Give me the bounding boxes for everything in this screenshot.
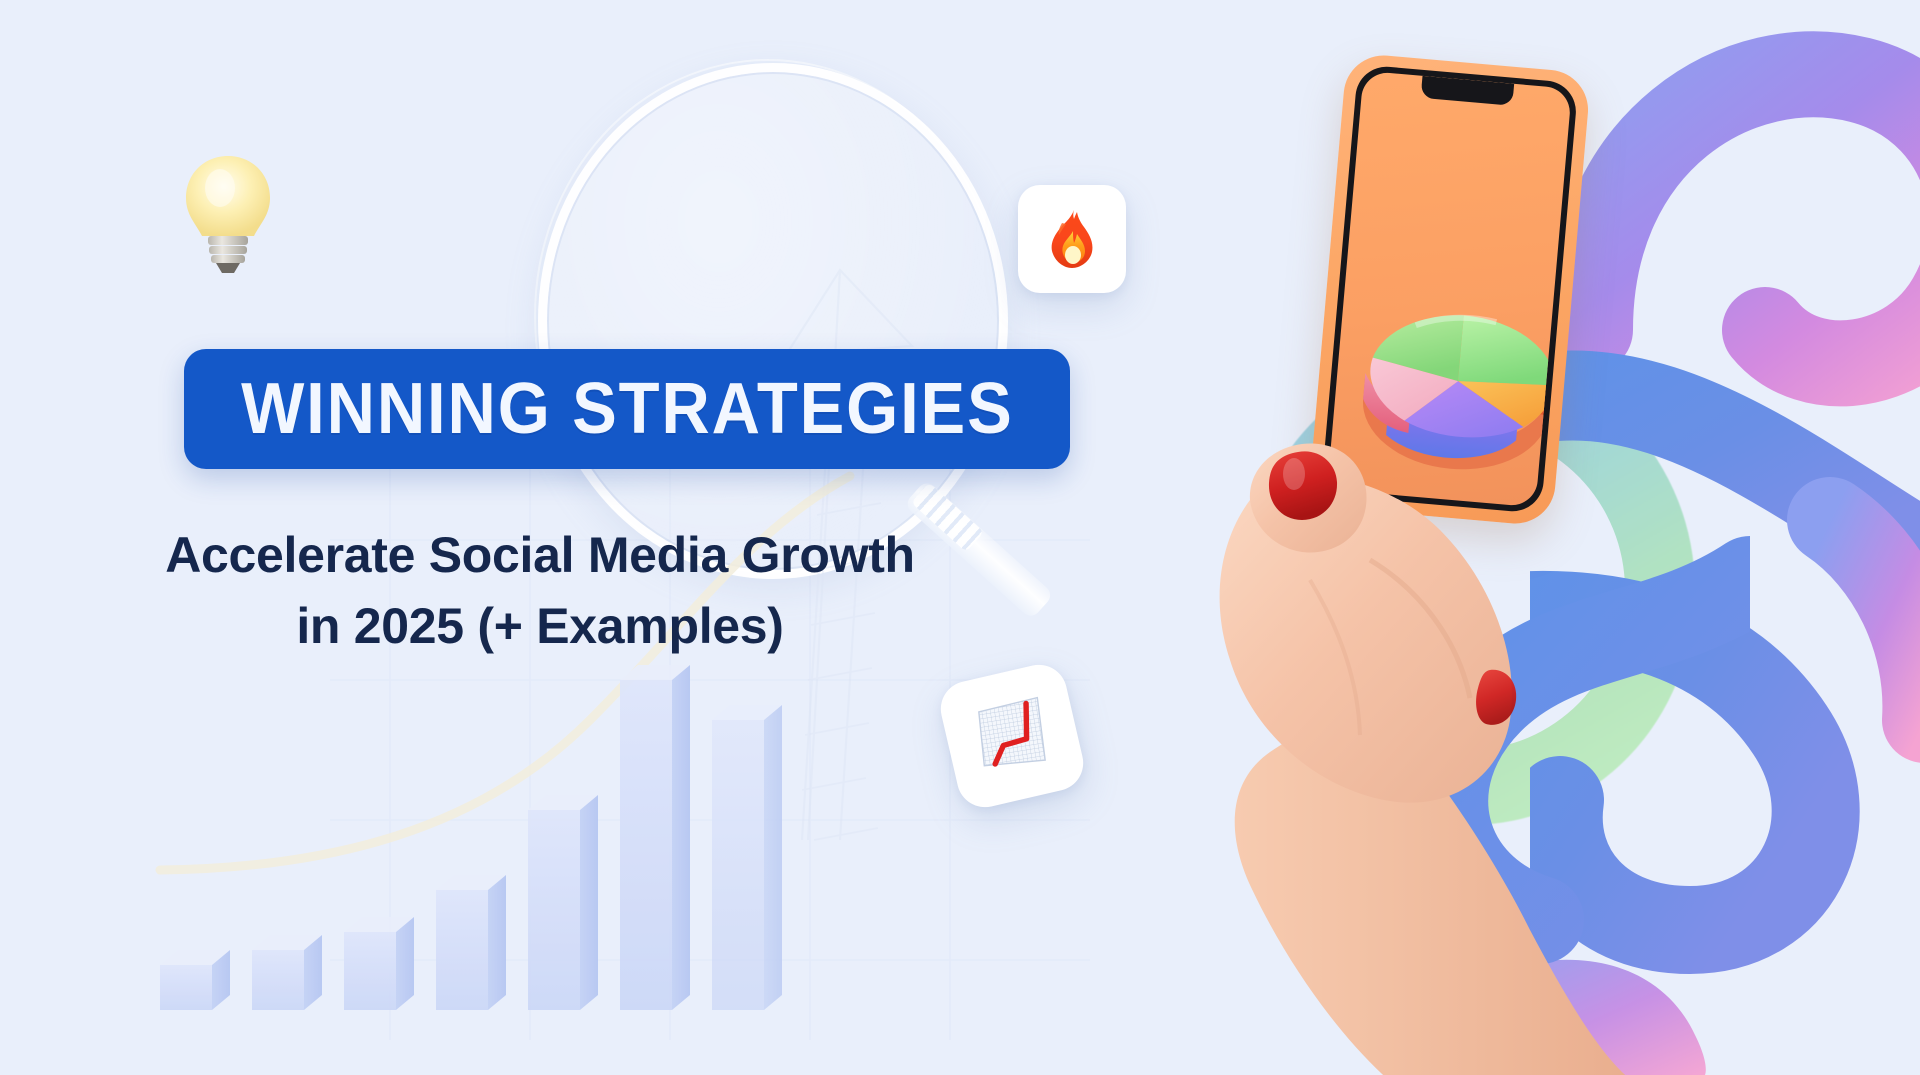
hero-banner-canvas: WINNING STRATEGIES Accelerate Social Med…	[0, 0, 1920, 1075]
fire-emoji-card	[1018, 185, 1126, 293]
subtitle-line-1: Accelerate Social Media Growth	[165, 527, 915, 583]
chart-decreasing-icon	[963, 687, 1061, 785]
hand-holding-phone-icon	[1190, 430, 1660, 1075]
fire-icon	[1040, 207, 1104, 271]
headline-badge: WINNING STRATEGIES	[184, 349, 1070, 469]
phone-notch	[1420, 76, 1514, 106]
growth-arrow-icon	[690, 150, 950, 850]
light-bulb-icon	[182, 152, 274, 276]
watermark-bar-chart	[150, 620, 1030, 1020]
headline-badge-text: WINNING STRATEGIES	[241, 368, 1014, 450]
subtitle-line-2: in 2025 (+ Examples)	[90, 591, 990, 662]
chart-decreasing-emoji-card	[935, 659, 1089, 813]
page-subtitle: Accelerate Social Media Growth in 2025 (…	[90, 520, 990, 662]
magnifying-glass-icon	[520, 55, 1020, 575]
